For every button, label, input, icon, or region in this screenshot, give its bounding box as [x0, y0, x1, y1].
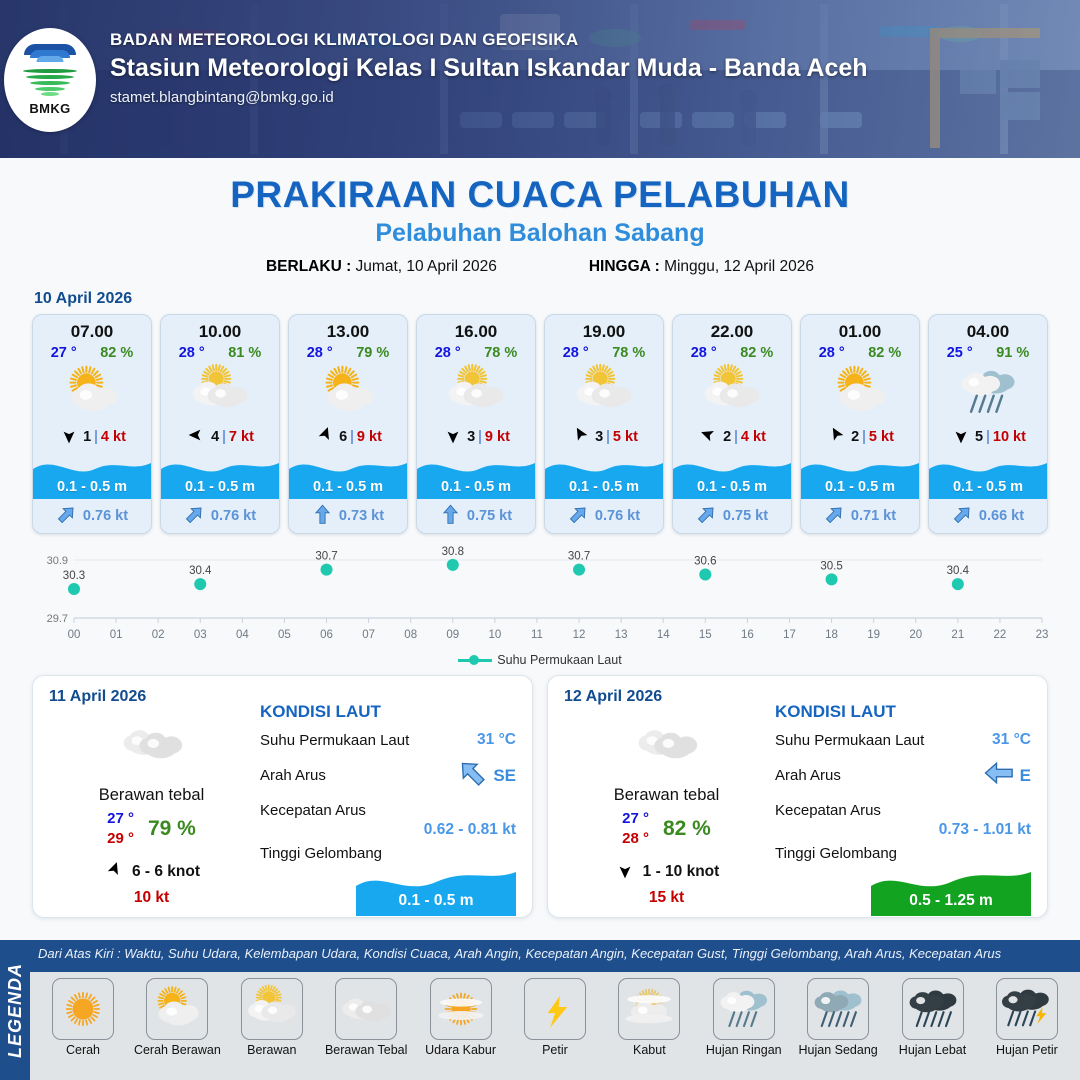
gust-value: 4 kt: [101, 429, 126, 445]
wave-height-value: 0.1 - 0.5 m: [801, 479, 919, 495]
svg-text:13: 13: [615, 629, 628, 641]
card-temp-hum-row: 28 ° 82 %: [801, 342, 919, 361]
wind-speed-value: 1: [83, 429, 91, 445]
panel-temp-min: 27 °: [622, 809, 649, 829]
current-direction-box: E: [984, 758, 1031, 793]
kabut-icon: [618, 978, 680, 1040]
card-temp-hum-row: 28 ° 81 %: [161, 342, 279, 361]
current-speed-value: 0.76 kt: [211, 508, 256, 524]
legend-item: Berawan Tebal: [321, 978, 411, 1057]
wave-height-value: 0.1 - 0.5 m: [417, 479, 535, 495]
logo-label: BMKG: [29, 101, 70, 116]
svg-text:18: 18: [825, 629, 838, 641]
wave-height-badge: 0.1 - 0.5 m: [260, 866, 516, 916]
legend-item-label: Udara Kabur: [416, 1043, 506, 1057]
gust-value: 4 kt: [741, 429, 766, 445]
agency-name: BADAN METEOROLOGI KLIMATOLOGI DAN GEOFIS…: [110, 30, 868, 50]
wind-speed-value: 2: [723, 429, 731, 445]
wind-speed-value: 4: [211, 429, 219, 445]
forecast-card[interactable]: 13.00 28 ° 79 % 6 | 9 kt 0.1 - 0.5 m: [288, 314, 408, 534]
current-speed-label: Kecepatan Arus: [775, 802, 1031, 819]
wave-height-label: Tinggi Gelombang: [260, 845, 516, 862]
sea-condition-title: KONDISI LAUT: [775, 702, 1031, 722]
daily-panel-row: 11 April 2026 Berawan tebal 27 ° 29 ° 79…: [0, 667, 1080, 918]
legend-item: Petir: [510, 978, 600, 1057]
panel-condition: Berawan tebal: [564, 786, 769, 805]
svg-text:30.9: 30.9: [47, 555, 68, 567]
legend-tab-label: LEGENDA: [5, 962, 26, 1057]
legend-item-label: Hujan Ringan: [699, 1043, 789, 1057]
current-direction-label: Arah Arus: [775, 767, 841, 784]
card-temp-hum-row: 28 ° 78 %: [545, 342, 663, 361]
panel-temp-min: 27 °: [107, 809, 134, 829]
current-speed-label: Kecepatan Arus: [260, 802, 516, 819]
sst-label: Suhu Permukaan Laut: [775, 732, 924, 749]
wave-height-value: 0.1 - 0.5 m: [289, 479, 407, 495]
legend-item-label: Cerah Berawan: [132, 1043, 222, 1057]
card-time: 04.00: [929, 315, 1047, 342]
wave-height-value: 0.1 - 0.5 m: [545, 479, 663, 495]
current-speed-value: 0.75 kt: [467, 508, 512, 524]
svg-text:30.3: 30.3: [63, 570, 85, 582]
svg-text:02: 02: [152, 629, 165, 641]
wind-separator: |: [478, 429, 482, 445]
svg-text:30.6: 30.6: [694, 556, 716, 568]
valid-from-value: Jumat, 10 April 2026: [356, 258, 497, 275]
current-direction-row: Arah Arus SE: [260, 758, 516, 793]
sst-row: Suhu Permukaan Laut 31 °C: [260, 731, 516, 749]
card-wind-row: 3 | 5 kt: [545, 423, 663, 453]
svg-text:08: 08: [404, 629, 417, 641]
petir-icon: [524, 978, 586, 1040]
legend-item: Cerah: [38, 978, 128, 1057]
svg-text:17: 17: [783, 629, 796, 641]
card-wave-block: 0.1 - 0.5 m: [673, 453, 791, 499]
card-current-row: 0.75 kt: [673, 499, 791, 533]
legend-item: Hujan Ringan: [699, 978, 789, 1057]
current-speed-value: 0.71 kt: [851, 508, 896, 524]
svg-text:19: 19: [867, 629, 880, 641]
svg-text:04: 04: [236, 629, 249, 641]
card-temp-hum-row: 28 ° 78 %: [417, 342, 535, 361]
card-wave-block: 0.1 - 0.5 m: [417, 453, 535, 499]
wind-speed-value: 6: [339, 429, 347, 445]
card-wave-block: 0.1 - 0.5 m: [929, 453, 1047, 499]
panel-humidity: 82 %: [663, 817, 711, 841]
station-name: Stasiun Meteorologi Kelas I Sultan Iskan…: [110, 54, 868, 83]
card-time: 07.00: [33, 315, 151, 342]
wind-direction-icon: [570, 425, 592, 449]
svg-text:15: 15: [699, 629, 712, 641]
svg-text:06: 06: [320, 629, 333, 641]
panel-temp-max: 29 °: [107, 829, 134, 849]
hujan-sedang-icon: [807, 978, 869, 1040]
card-wind-row: 1 | 4 kt: [33, 423, 151, 453]
panel-temp-range: 27 ° 28 °: [622, 809, 649, 850]
current-direction-icon: [184, 504, 205, 529]
hujan-ringan-icon: [929, 361, 1047, 423]
wind-speed-value: 3: [467, 429, 475, 445]
cerah-berawan-icon: [289, 361, 407, 423]
wave-height-label: Tinggi Gelombang: [775, 845, 1031, 862]
current-direction-label: Arah Arus: [260, 767, 326, 784]
forecast-card[interactable]: 19.00 28 ° 78 % 3 | 5 kt 0.1 - 0.5: [544, 314, 664, 534]
panel-gust: 10 kt: [49, 889, 254, 907]
card-humidity: 82 %: [868, 345, 901, 361]
valid-until: HINGGA : Minggu, 12 April 2026: [589, 258, 814, 276]
svg-text:03: 03: [194, 629, 207, 641]
chart-legend-label: Suhu Permukaan Laut: [497, 653, 621, 667]
svg-text:30.4: 30.4: [947, 565, 970, 577]
panel-temp-range: 27 ° 29 °: [107, 809, 134, 850]
validity-row: BERLAKU : Jumat, 10 April 2026 HINGGA : …: [0, 258, 1080, 276]
svg-text:07: 07: [362, 629, 375, 641]
svg-text:12: 12: [573, 629, 586, 641]
forecast-card[interactable]: 22.00 28 ° 82 % 2 | 4 kt 0.1 - 0.5: [672, 314, 792, 534]
current-speed-value: 0.75 kt: [723, 508, 768, 524]
legend-item-label: Hujan Sedang: [793, 1043, 883, 1057]
panel-date: 12 April 2026: [564, 688, 769, 706]
cerah-berawan-icon: [146, 978, 208, 1040]
panel-wind-range: 1 - 10 knot: [643, 863, 720, 881]
card-temperature: 28 °: [563, 345, 589, 361]
berawan-tebal-icon: [49, 712, 254, 774]
page-title: PRAKIRAAN CUACA PELABUHAN: [0, 174, 1080, 216]
svg-text:20: 20: [909, 629, 922, 641]
hujan-lebat-icon: [902, 978, 964, 1040]
wind-direction-icon: [314, 425, 336, 449]
page-header: BMKG BADAN METEOROLOGI KLIMATOLOGI DAN G…: [0, 0, 1080, 158]
wind-direction-icon: [103, 860, 125, 885]
svg-text:21: 21: [951, 629, 964, 641]
gust-value: 5 kt: [613, 429, 638, 445]
wind-separator: |: [734, 429, 738, 445]
current-direction-icon: [952, 504, 973, 529]
gust-value: 9 kt: [357, 429, 382, 445]
current-direction-icon: [568, 504, 589, 529]
forecast-day-label: 10 April 2026: [34, 290, 1080, 308]
card-temperature: 28 °: [307, 345, 333, 361]
valid-from-label: BERLAKU :: [266, 258, 351, 275]
card-wind-row: 5 | 10 kt: [929, 423, 1047, 453]
card-time: 13.00: [289, 315, 407, 342]
card-current-row: 0.75 kt: [417, 499, 535, 533]
wind-direction-icon: [614, 860, 636, 885]
current-direction-icon: [696, 504, 717, 529]
panel-temp-humidity: 27 ° 28 ° 82 %: [564, 809, 769, 850]
panel-wind-row: 6 - 6 knot: [49, 860, 254, 885]
wind-speed-value: 3: [595, 429, 603, 445]
wind-direction-icon: [186, 425, 208, 449]
wind-separator: |: [350, 429, 354, 445]
svg-text:14: 14: [657, 629, 670, 641]
card-humidity: 81 %: [228, 345, 261, 361]
legend-item: Hujan Petir: [982, 978, 1072, 1057]
card-wave-block: 0.1 - 0.5 m: [545, 453, 663, 499]
current-speed-value: 0.73 kt: [339, 508, 384, 524]
current-direction-value: E: [1020, 766, 1031, 786]
card-humidity: 82 %: [740, 345, 773, 361]
card-temperature: 28 °: [819, 345, 845, 361]
card-temperature: 27 °: [51, 345, 77, 361]
udara-kabur-icon: [430, 978, 492, 1040]
card-humidity: 78 %: [484, 345, 517, 361]
berawan-tebal-icon: [564, 712, 769, 774]
svg-text:05: 05: [278, 629, 291, 641]
berawan-icon: [673, 361, 791, 423]
svg-text:09: 09: [446, 629, 459, 641]
gust-value: 10 kt: [993, 429, 1026, 445]
wave-height-value: 0.1 - 0.5 m: [33, 479, 151, 495]
card-temperature: 28 °: [179, 345, 205, 361]
svg-text:22: 22: [994, 629, 1007, 641]
hujan-petir-icon: [996, 978, 1058, 1040]
panel-date: 11 April 2026: [49, 688, 254, 706]
card-time: 16.00: [417, 315, 535, 342]
svg-text:10: 10: [488, 629, 501, 641]
page-subtitle: Pelabuhan Balohan Sabang: [0, 219, 1080, 248]
valid-until-label: HINGGA :: [589, 258, 660, 275]
gust-value: 9 kt: [485, 429, 510, 445]
card-time: 10.00: [161, 315, 279, 342]
card-humidity: 91 %: [996, 345, 1029, 361]
panel-temp-humidity: 27 ° 29 ° 79 %: [49, 809, 254, 850]
svg-text:11: 11: [531, 629, 543, 641]
card-temp-hum-row: 25 ° 91 %: [929, 342, 1047, 361]
card-wave-block: 0.1 - 0.5 m: [801, 453, 919, 499]
legend-icon-strip: Cerah Cerah Berawan Berawan: [30, 972, 1080, 1080]
card-wind-row: 2 | 5 kt: [801, 423, 919, 453]
current-speed-value: 0.76 kt: [83, 508, 128, 524]
daily-forecast-panel[interactable]: 12 April 2026 Berawan tebal 27 ° 28 ° 82…: [547, 675, 1048, 918]
sst-chart-svg: 30.929.700010203040506070809101112131415…: [22, 546, 1058, 651]
current-direction-icon: [56, 504, 77, 529]
chart-legend: Suhu Permukaan Laut: [0, 653, 1080, 667]
panel-temp-max: 28 °: [622, 829, 649, 849]
wave-height-value: 0.1 - 0.5 m: [929, 479, 1047, 495]
svg-text:29.7: 29.7: [47, 613, 68, 625]
cerah-icon: [52, 978, 114, 1040]
card-current-row: 0.76 kt: [545, 499, 663, 533]
wind-direction-icon: [442, 425, 464, 449]
contact-email: stamet.blangbintang@bmkg.go.id: [110, 89, 868, 106]
current-direction-icon: [440, 504, 461, 529]
current-direction-icon: [824, 504, 845, 529]
panel-gust: 15 kt: [564, 889, 769, 907]
legend-item-label: Petir: [510, 1043, 600, 1057]
sst-value: 31 °C: [477, 731, 516, 749]
card-humidity: 82 %: [100, 345, 133, 361]
card-temperature: 25 °: [947, 345, 973, 361]
svg-text:23: 23: [1036, 629, 1049, 641]
card-wave-block: 0.1 - 0.5 m: [161, 453, 279, 499]
svg-text:00: 00: [68, 629, 81, 641]
chart-legend-marker-icon: [458, 659, 492, 662]
card-temperature: 28 °: [691, 345, 717, 361]
wind-direction-icon: [698, 425, 720, 449]
current-direction-icon: [312, 504, 333, 529]
current-speed-row: Kecepatan Arus 0.62 - 0.81 kt: [260, 802, 516, 839]
wind-direction-icon: [58, 425, 80, 449]
card-wind-row: 6 | 9 kt: [289, 423, 407, 453]
card-current-row: 0.76 kt: [161, 499, 279, 533]
svg-text:16: 16: [741, 629, 754, 641]
card-current-row: 0.73 kt: [289, 499, 407, 533]
gust-value: 5 kt: [869, 429, 894, 445]
panel-wind-row: 1 - 10 knot: [564, 860, 769, 885]
svg-text:30.7: 30.7: [315, 551, 337, 563]
current-direction-row: Arah Arus E: [775, 758, 1031, 793]
panel-right: KONDISI LAUT Suhu Permukaan Laut 31 °C A…: [254, 688, 516, 905]
title-section: PRAKIRAAN CUACA PELABUHAN Pelabuhan Balo…: [0, 158, 1080, 276]
card-temp-hum-row: 27 ° 82 %: [33, 342, 151, 361]
cerah-berawan-icon: [801, 361, 919, 423]
legend-item-label: Cerah: [38, 1043, 128, 1057]
svg-text:30.7: 30.7: [568, 551, 590, 563]
card-time: 19.00: [545, 315, 663, 342]
legend-tab: LEGENDA: [0, 940, 30, 1080]
legend-item: Berawan: [227, 978, 317, 1057]
logo-arcs-icon: [24, 44, 76, 66]
card-wind-row: 3 | 9 kt: [417, 423, 535, 453]
legend-item-label: Berawan Tebal: [321, 1043, 411, 1057]
current-direction-icon: [984, 758, 1014, 793]
berawan-icon: [241, 978, 303, 1040]
card-humidity: 79 %: [356, 345, 389, 361]
header-text-block: BADAN METEOROLOGI KLIMATOLOGI DAN GEOFIS…: [110, 30, 868, 106]
card-wave-block: 0.1 - 0.5 m: [33, 453, 151, 499]
current-direction-box: SE: [457, 758, 516, 793]
panel-condition: Berawan tebal: [49, 786, 254, 805]
current-speed-value: 0.62 - 0.81 kt: [260, 821, 516, 839]
card-current-row: 0.76 kt: [33, 499, 151, 533]
berawan-icon: [417, 361, 535, 423]
valid-from: BERLAKU : Jumat, 10 April 2026: [266, 258, 497, 276]
daily-forecast-panel[interactable]: 11 April 2026 Berawan tebal 27 ° 29 ° 79…: [32, 675, 533, 918]
current-speed-row: Kecepatan Arus 0.73 - 1.01 kt: [775, 802, 1031, 839]
wave-height-value: 0.1 - 0.5 m: [673, 479, 791, 495]
berawan-tebal-icon: [335, 978, 397, 1040]
sst-label: Suhu Permukaan Laut: [260, 732, 409, 749]
valid-until-value: Minggu, 12 April 2026: [664, 258, 814, 275]
wind-separator: |: [986, 429, 990, 445]
legend-item: Udara Kabur: [416, 978, 506, 1057]
sst-row: Suhu Permukaan Laut 31 °C: [775, 731, 1031, 749]
wave-height-badge: 0.5 - 1.25 m: [775, 866, 1031, 916]
wind-separator: |: [222, 429, 226, 445]
current-speed-value: 0.66 kt: [979, 508, 1024, 524]
wind-speed-value: 5: [975, 429, 983, 445]
legend-item-label: Hujan Lebat: [888, 1043, 978, 1057]
current-speed-value: 0.76 kt: [595, 508, 640, 524]
panel-left: 12 April 2026 Berawan tebal 27 ° 28 ° 82…: [564, 688, 769, 905]
legend-item-label: Kabut: [604, 1043, 694, 1057]
card-temperature: 28 °: [435, 345, 461, 361]
card-time: 01.00: [801, 315, 919, 342]
logo-wave-icon: [23, 69, 77, 99]
berawan-icon: [161, 361, 279, 423]
legend-section: LEGENDA Dari Atas Kiri : Waktu, Suhu Uda…: [0, 940, 1080, 1080]
wave-height-value: 0.1 - 0.5 m: [356, 892, 516, 910]
card-humidity: 78 %: [612, 345, 645, 361]
current-direction-icon: [457, 758, 487, 793]
wave-height-value: 0.1 - 0.5 m: [161, 479, 279, 495]
svg-text:30.4: 30.4: [189, 565, 212, 577]
card-wind-row: 2 | 4 kt: [673, 423, 791, 453]
cerah-berawan-icon: [33, 361, 151, 423]
forecast-card[interactable]: 04.00 25 ° 91 % 5 | 10 kt 0.1 - 0.5: [928, 314, 1048, 534]
panel-right: KONDISI LAUT Suhu Permukaan Laut 31 °C A…: [769, 688, 1031, 905]
legend-item: Kabut: [604, 978, 694, 1057]
svg-text:30.5: 30.5: [820, 560, 842, 572]
current-speed-value: 0.73 - 1.01 kt: [775, 821, 1031, 839]
card-wind-row: 4 | 7 kt: [161, 423, 279, 453]
svg-text:30.8: 30.8: [442, 546, 464, 558]
berawan-icon: [545, 361, 663, 423]
legend-item-label: Hujan Petir: [982, 1043, 1072, 1057]
forecast-card[interactable]: 07.00 27 ° 82 % 1 | 4 kt 0.1 - 0.5 m: [32, 314, 152, 534]
wind-separator: |: [606, 429, 610, 445]
legend-item: Hujan Lebat: [888, 978, 978, 1057]
card-time: 22.00: [673, 315, 791, 342]
panel-humidity: 79 %: [148, 817, 196, 841]
sst-value: 31 °C: [992, 731, 1031, 749]
card-current-row: 0.66 kt: [929, 499, 1047, 533]
gust-value: 7 kt: [229, 429, 254, 445]
wave-height-value: 0.5 - 1.25 m: [871, 892, 1031, 910]
forecast-card-row: 07.00 27 ° 82 % 1 | 4 kt 0.1 - 0.5 m: [0, 314, 1080, 534]
card-temp-hum-row: 28 ° 82 %: [673, 342, 791, 361]
svg-text:01: 01: [110, 629, 123, 641]
panel-wind-range: 6 - 6 knot: [132, 863, 200, 881]
current-direction-value: SE: [493, 766, 516, 786]
sst-chart: 30.929.700010203040506070809101112131415…: [22, 546, 1058, 651]
card-wave-block: 0.1 - 0.5 m: [289, 453, 407, 499]
forecast-card[interactable]: 01.00 28 ° 82 % 2 | 5 kt 0.1 - 0.5 m: [800, 314, 920, 534]
wind-speed-value: 2: [851, 429, 859, 445]
wind-direction-icon: [950, 425, 972, 449]
forecast-card[interactable]: 10.00 28 ° 81 % 4 | 7 kt 0.1 - 0.5: [160, 314, 280, 534]
legend-item: Hujan Sedang: [793, 978, 883, 1057]
legend-note: Dari Atas Kiri : Waktu, Suhu Udara, Kele…: [38, 946, 1074, 961]
forecast-card[interactable]: 16.00 28 ° 78 % 3 | 9 kt 0.1 - 0.5: [416, 314, 536, 534]
wind-separator: |: [862, 429, 866, 445]
bmkg-logo: BMKG: [4, 28, 96, 132]
wind-separator: |: [94, 429, 98, 445]
wind-direction-icon: [826, 425, 848, 449]
sea-condition-title: KONDISI LAUT: [260, 702, 516, 722]
hujan-ringan-icon: [713, 978, 775, 1040]
card-temp-hum-row: 28 ° 79 %: [289, 342, 407, 361]
panel-left: 11 April 2026 Berawan tebal 27 ° 29 ° 79…: [49, 688, 254, 905]
card-current-row: 0.71 kt: [801, 499, 919, 533]
legend-item: Cerah Berawan: [132, 978, 222, 1057]
legend-item-label: Berawan: [227, 1043, 317, 1057]
